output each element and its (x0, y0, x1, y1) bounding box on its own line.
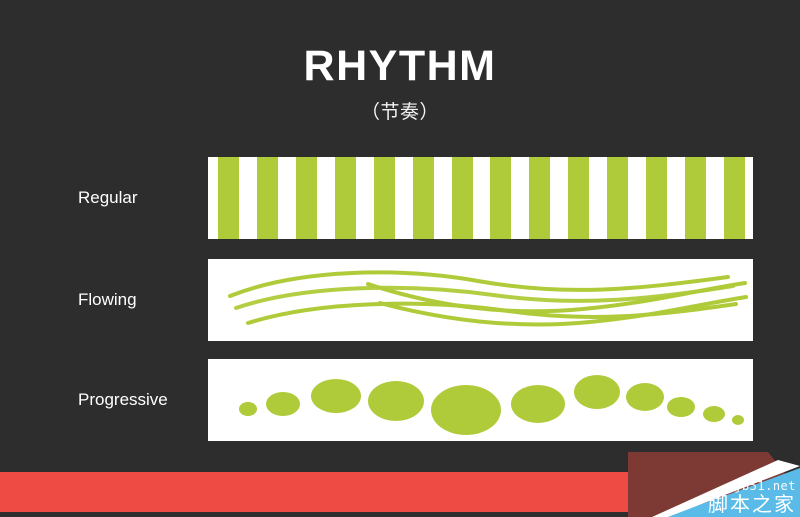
progressive-circles-graphic (208, 359, 753, 441)
stripe (568, 157, 589, 239)
slide-canvas: RHYTHM （节奏） Regular Flowing (0, 0, 800, 517)
stripe (685, 157, 706, 239)
row-label-flowing: Flowing (78, 290, 198, 310)
panel-flowing-lines (208, 259, 753, 341)
stripe (646, 157, 667, 239)
title-block: RHYTHM （节奏） (0, 44, 800, 124)
row-label-regular: Regular (78, 188, 198, 208)
watermark: jb51.net 脚本之家 (628, 452, 800, 517)
row-progressive: Progressive (0, 359, 800, 441)
row-flowing: Flowing (0, 259, 800, 341)
stripe (335, 157, 356, 239)
row-regular: Regular (0, 157, 800, 239)
stripe (296, 157, 317, 239)
row-label-progressive: Progressive (78, 390, 198, 410)
flowing-lines-graphic (208, 259, 753, 341)
stripe (607, 157, 628, 239)
stripe (529, 157, 550, 239)
watermark-banner-icon (628, 452, 800, 517)
stripe (724, 157, 745, 239)
panel-progressive-circles (208, 359, 753, 441)
stripe (218, 157, 239, 239)
stripe (413, 157, 434, 239)
stripe (257, 157, 278, 239)
stripe (452, 157, 473, 239)
page-title: RHYTHM (0, 44, 800, 89)
page-subtitle: （节奏） (0, 97, 800, 124)
stripe (374, 157, 395, 239)
stripe (490, 157, 511, 239)
panel-regular-stripes (208, 157, 753, 239)
